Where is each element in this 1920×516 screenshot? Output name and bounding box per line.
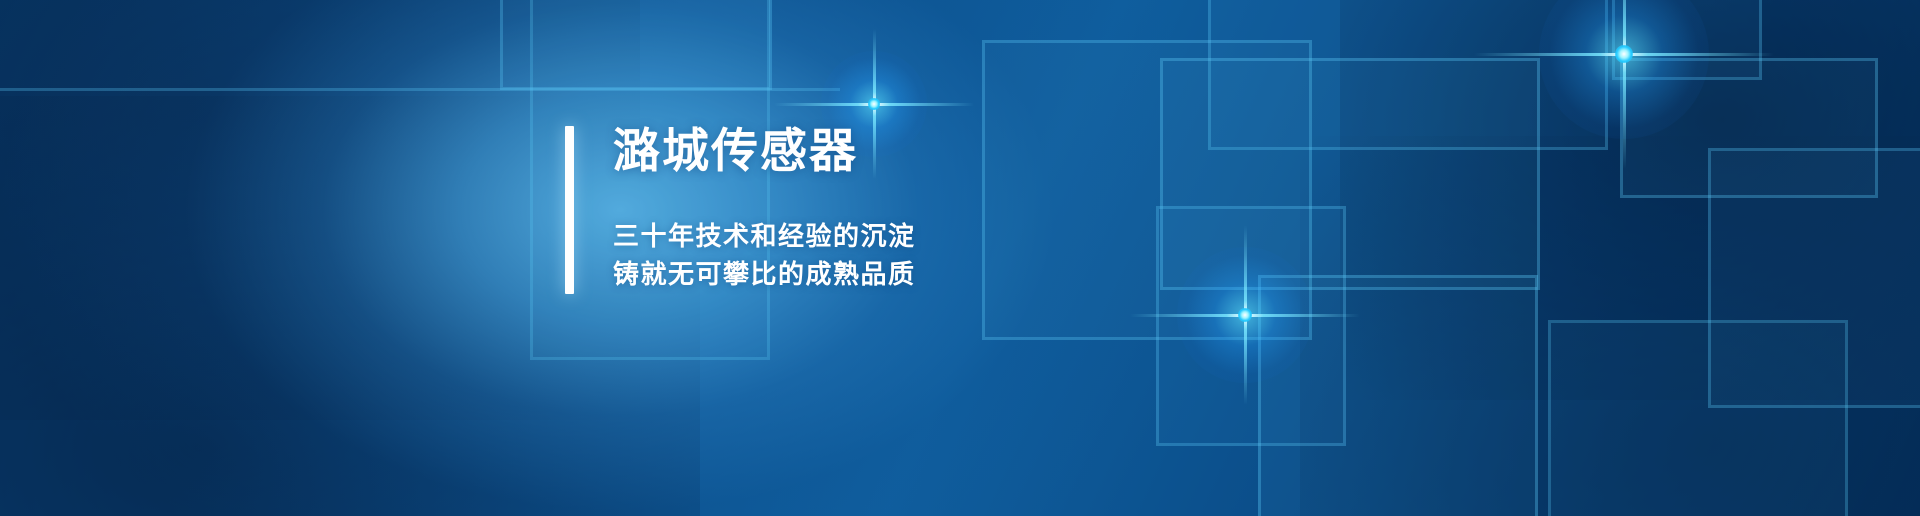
page-title: 潞城传感器: [613, 126, 916, 177]
sparkle-ray-vertical: [1623, 0, 1626, 169]
accent-bar: [565, 126, 574, 294]
sparkle-core: [1615, 45, 1633, 63]
sparkle-core: [868, 98, 879, 109]
sparkle-ray-horizontal: [1474, 53, 1774, 56]
headline-text-column: 潞城传感器 三十年技术和经验的沉淀 铸就无可攀比的成熟品质: [574, 126, 916, 294]
headline-block: 潞城传感器 三十年技术和经验的沉淀 铸就无可攀比的成熟品质: [565, 126, 916, 294]
sparkle-halo: [1177, 247, 1313, 383]
sparkle-halo: [1539, 0, 1709, 139]
sparkle-layer: [0, 0, 1920, 516]
subtitle-line-1: 三十年技术和经验的沉淀: [613, 217, 916, 255]
sparkle-ray-horizontal: [774, 103, 974, 106]
sparkle-core: [1238, 308, 1252, 322]
sparkle-ray-vertical: [1244, 225, 1247, 405]
hero-banner: 潞城传感器 三十年技术和经验的沉淀 铸就无可攀比的成熟品质: [0, 0, 1920, 516]
subtitle-line-2: 铸就无可攀比的成熟品质: [613, 255, 916, 293]
sparkle-ray-horizontal: [1130, 314, 1360, 317]
